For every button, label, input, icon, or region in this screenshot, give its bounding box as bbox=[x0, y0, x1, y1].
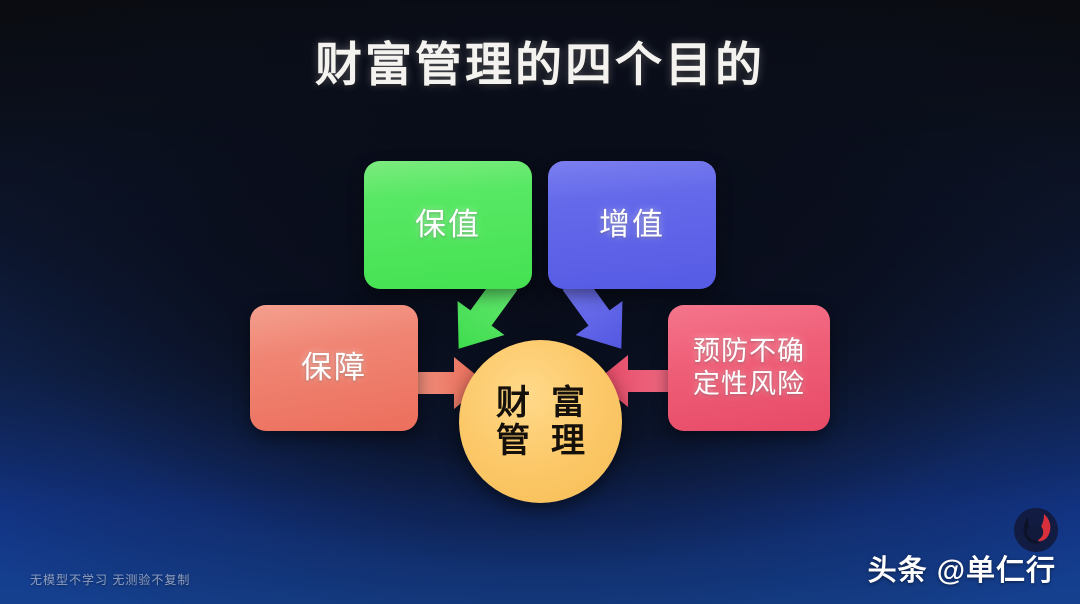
node-coral-label: 保障 bbox=[301, 349, 367, 387]
node-appreciation[interactable]: 增值 bbox=[548, 161, 716, 289]
arrow-layer bbox=[0, 0, 1080, 604]
node-risk-prevention[interactable]: 预防不确 定性风险 bbox=[668, 305, 830, 431]
node-protection[interactable]: 保障 bbox=[250, 305, 418, 431]
hub-wealth-management[interactable]: 财 富 管 理 bbox=[459, 340, 622, 503]
node-green-label: 保值 bbox=[415, 206, 481, 244]
brand-credit: 头条 @单仁行 bbox=[868, 547, 1056, 589]
brand-text: 头条 @单仁行 bbox=[868, 547, 1056, 589]
watermark-text: 无模型不学习 无测验不复制 bbox=[30, 571, 190, 588]
hub-char-3: 管 bbox=[489, 424, 538, 458]
hub-label: 财 富 管 理 bbox=[489, 386, 593, 458]
toutiao-logo-icon bbox=[1014, 508, 1058, 552]
hub-char-2: 富 bbox=[544, 386, 593, 420]
hub-char-1: 财 bbox=[489, 386, 538, 420]
node-pink-label: 预防不确 定性风险 bbox=[693, 335, 805, 401]
node-preserve-value[interactable]: 保值 bbox=[364, 161, 532, 289]
node-pink-label-line1: 预防不确 bbox=[693, 336, 805, 366]
node-purple-label: 增值 bbox=[599, 206, 665, 244]
node-pink-label-line2: 定性风险 bbox=[693, 368, 805, 401]
hub-char-4: 理 bbox=[544, 424, 593, 458]
slide-canvas: 财富管理的四个目的 bbox=[0, 0, 1080, 604]
